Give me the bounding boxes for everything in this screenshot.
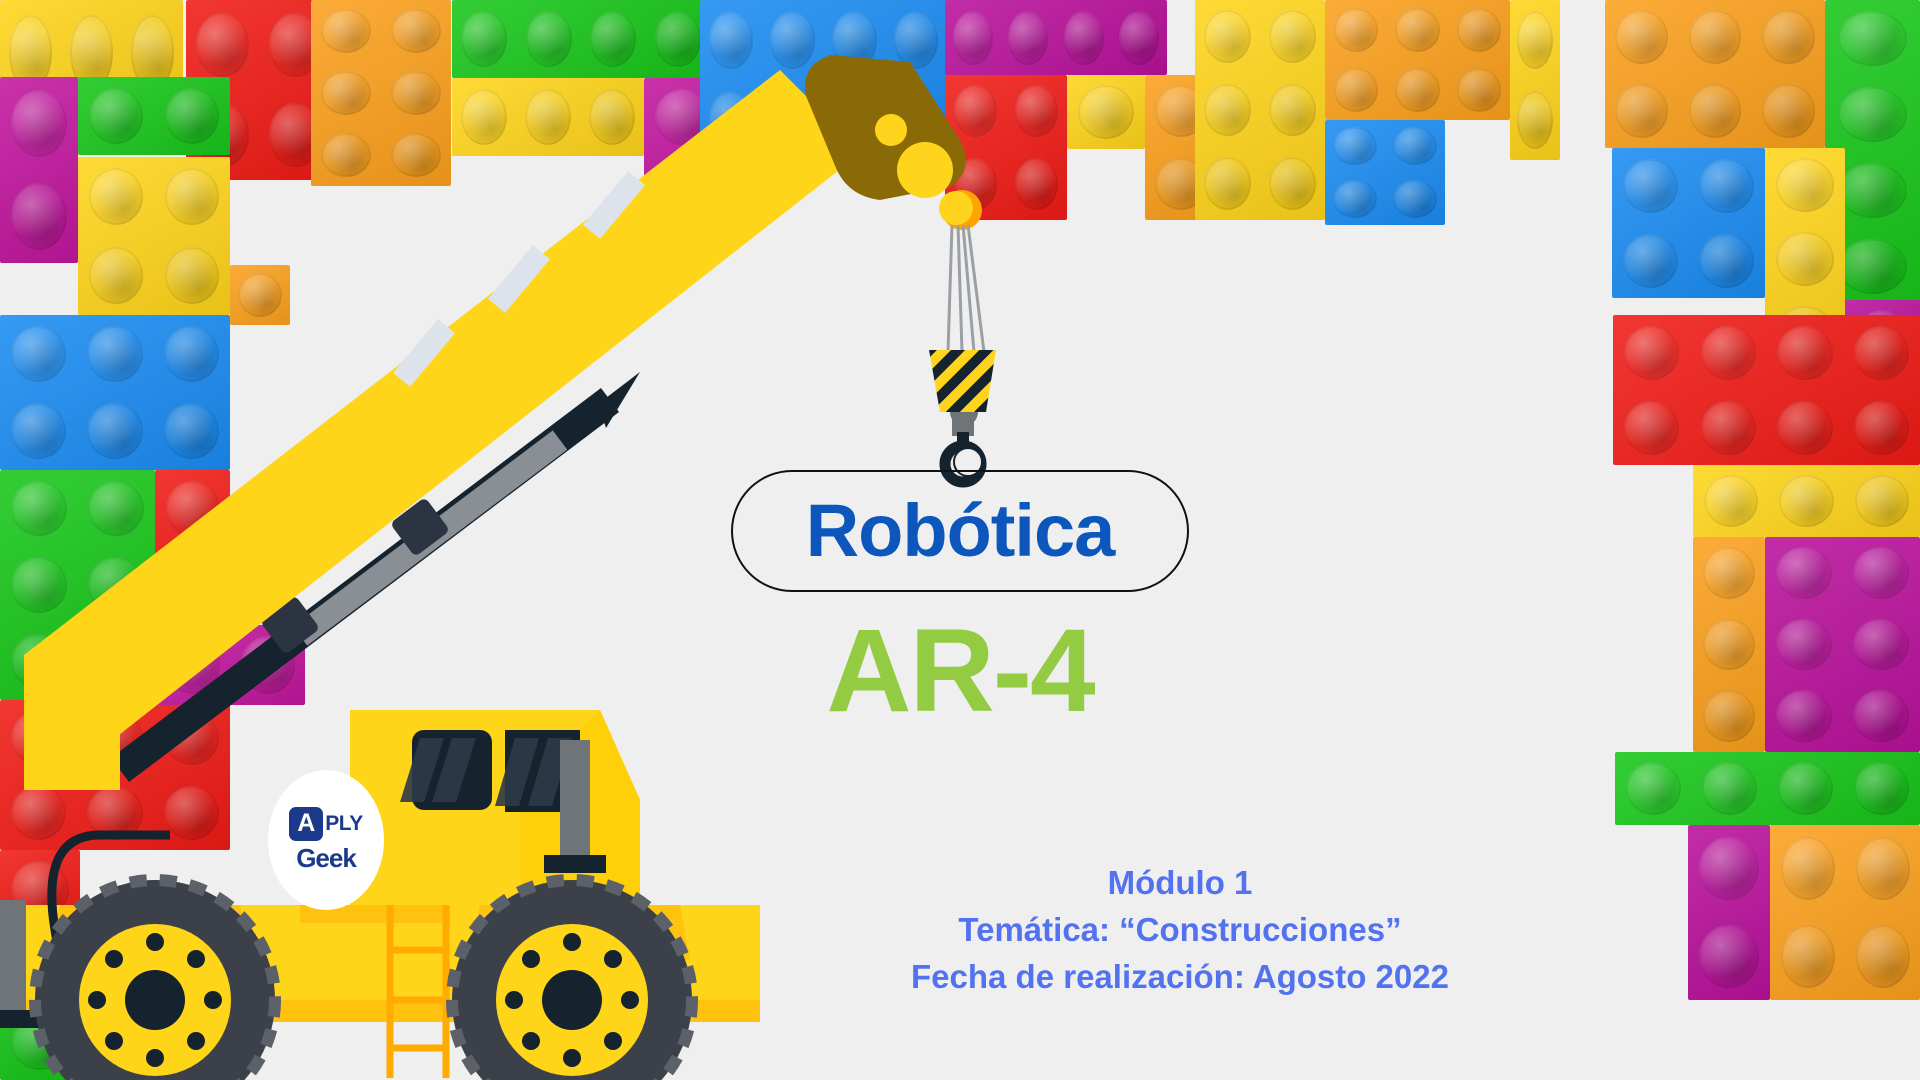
lego-stud [655, 166, 711, 222]
lego-stud [1699, 159, 1754, 213]
lego-stud [832, 11, 876, 69]
lego-stud [1854, 401, 1909, 455]
meta-line-module: Módulo 1 [760, 860, 1600, 907]
lego-studs [945, 75, 1067, 220]
lego-stud [1838, 11, 1906, 66]
lego-stud [321, 133, 371, 178]
meta-line-date: Fecha de realización: Agosto 2022 [760, 954, 1600, 1001]
lego-stud [87, 711, 142, 765]
lego-studs [1325, 120, 1445, 225]
lego-stud [1776, 619, 1832, 671]
lego-studs [1612, 148, 1765, 298]
lego-brick [452, 78, 644, 156]
lego-studs [1693, 465, 1920, 537]
lego-studs [78, 157, 230, 315]
lego-stud [1776, 690, 1832, 742]
lego-stud [1015, 158, 1059, 210]
lego-stud [1778, 762, 1833, 815]
lego-studs [0, 77, 78, 263]
lego-brick [1770, 825, 1920, 1000]
lego-stud [166, 481, 220, 537]
aply-geek-logo: A PLY Geek [268, 770, 384, 910]
lego-stud [1856, 925, 1910, 988]
lego-stud [241, 636, 295, 694]
lego-stud [11, 183, 67, 250]
lego-brick [1693, 537, 1765, 752]
lego-stud [953, 11, 993, 65]
lego-stud [461, 89, 507, 145]
lego-stud [526, 11, 572, 67]
lego-brick [945, 0, 1167, 75]
lego-stud [391, 71, 441, 116]
truck-ladder [390, 905, 446, 1078]
lego-stud [1854, 326, 1909, 380]
lego-studs [0, 315, 230, 470]
lego-studs [452, 78, 644, 156]
lego-brick [0, 930, 80, 1080]
lego-stud [1269, 157, 1316, 210]
lego-brick [1612, 148, 1765, 298]
title-pill-badge: Robótica [731, 470, 1189, 592]
lego-brick [1325, 120, 1445, 225]
logo-top-row: A PLY [289, 807, 362, 841]
lego-stud [954, 85, 998, 137]
lego-stud [655, 11, 701, 67]
lego-brick [1693, 465, 1920, 537]
lego-stud [11, 557, 67, 612]
lego-stud [1204, 10, 1251, 63]
lego-stud [1334, 8, 1378, 51]
lego-brick [1613, 315, 1920, 465]
lego-stud [91, 1011, 149, 1069]
lego-stud [1395, 8, 1439, 51]
lego-studs [311, 0, 451, 186]
lego-stud [1762, 10, 1815, 63]
lego-stud [164, 403, 219, 459]
lego-stud [1855, 475, 1909, 527]
lego-stud [1699, 925, 1758, 988]
lego-stud [11, 90, 67, 157]
lego-studs [1615, 752, 1920, 825]
lego-studs [1325, 0, 1510, 120]
lego-stud [770, 11, 814, 69]
lego-stud [832, 91, 876, 149]
lego-brick [0, 77, 78, 263]
lego-brick [452, 0, 710, 78]
lego-stud [1119, 11, 1159, 65]
lego-stud [1269, 84, 1316, 137]
lego-stud [1623, 159, 1678, 213]
lego-stud [1853, 690, 1909, 742]
meta-line-theme: Temática: “Construcciones” [760, 907, 1600, 954]
logo-ply-text: PLY [325, 812, 362, 836]
lego-stud [1776, 158, 1834, 211]
lego-stud [1615, 84, 1668, 137]
lego-stud [894, 11, 938, 69]
lego-stud [11, 1016, 69, 1070]
lego-stud [461, 11, 507, 67]
lego-stud [321, 71, 371, 116]
lego-studs [1510, 0, 1560, 160]
lego-studs [155, 470, 230, 625]
lego-stud [11, 634, 67, 689]
lego-stud [1457, 8, 1501, 51]
lego-stud [1517, 11, 1553, 69]
logo-a-mark: A [289, 807, 323, 841]
lego-stud [88, 481, 144, 536]
lego-stud [164, 711, 219, 765]
lego-stud [196, 13, 249, 78]
lego-studs [1067, 75, 1145, 149]
lego-brick [0, 470, 155, 700]
lego-stud [1393, 127, 1436, 165]
lego-brick [1510, 0, 1560, 160]
crane-hook-block [929, 350, 996, 482]
lego-stud [88, 557, 144, 612]
lego-stud [770, 91, 814, 149]
lego-stud [894, 91, 938, 149]
lego-stud [1015, 85, 1059, 137]
lego-stud [11, 481, 67, 536]
lego-studs [945, 0, 1167, 75]
lego-stud [590, 11, 636, 67]
lego-studs [1770, 825, 1920, 1000]
lego-stud [1856, 837, 1910, 900]
lego-stud [954, 158, 998, 210]
lego-stud [166, 558, 220, 614]
lego-stud [1457, 68, 1501, 111]
lego-brick [1765, 537, 1920, 752]
lego-stud [11, 711, 66, 765]
lego-studs [230, 265, 290, 325]
lego-stud [321, 9, 371, 54]
lego-stud [589, 89, 635, 145]
lego-stud [1517, 91, 1553, 149]
lego-stud [709, 91, 753, 149]
lego-studs [1688, 825, 1770, 1000]
lego-brick [1195, 0, 1325, 220]
lego-stud [1781, 837, 1835, 900]
slide-meta-block: Módulo 1 Temática: “Construcciones” Fech… [760, 860, 1600, 1001]
lego-stud [1615, 10, 1668, 63]
lego-stud [1838, 163, 1906, 218]
lego-stud [89, 88, 144, 144]
lego-stud [11, 786, 66, 840]
lego-stud [87, 326, 142, 382]
lego-stud [1854, 762, 1909, 815]
lego-stud [11, 861, 69, 919]
lego-studs [78, 77, 230, 155]
lego-stud [11, 326, 66, 382]
lego-stud [1204, 157, 1251, 210]
lego-brick [1067, 75, 1145, 149]
lego-studs [452, 0, 710, 78]
lego-stud [1689, 10, 1742, 63]
slide-canvas: A PLY Geek Robótica AR-4 Módulo 1 Temáti… [0, 0, 1920, 1080]
lego-stud [1334, 68, 1378, 111]
lego-stud [1204, 84, 1251, 137]
lego-stud [1699, 837, 1758, 900]
lego-stud [1064, 11, 1104, 65]
lego-studs [1613, 315, 1920, 465]
lego-brick [78, 77, 230, 155]
lego-brick [1615, 752, 1920, 825]
lego-stud [1395, 68, 1439, 111]
lego-stud [1333, 180, 1376, 218]
lego-brick [1325, 0, 1510, 120]
lego-stud [89, 168, 144, 225]
lego-stud [88, 634, 144, 689]
lego-stud [1781, 925, 1835, 988]
lego-stud [1699, 234, 1754, 288]
lego-studs [1195, 0, 1325, 220]
lego-stud [1703, 690, 1755, 742]
lego-studs [1605, 0, 1825, 148]
lego-stud [164, 786, 219, 840]
lego-studs [1765, 537, 1920, 752]
lego-stud [1853, 547, 1909, 599]
lego-stud [709, 11, 753, 69]
subtitle-code: AR-4 [731, 612, 1189, 730]
lego-stud [1838, 239, 1906, 294]
lego-stud [11, 941, 69, 995]
lego-studs [0, 930, 80, 1080]
lego-stud [87, 403, 142, 459]
lego-stud [1624, 401, 1679, 455]
lego-stud [1624, 326, 1679, 380]
truck-wheel-rear [452, 880, 692, 1080]
subtitle-wrap: AR-4 [731, 612, 1189, 730]
lego-stud [525, 89, 571, 145]
lego-stud [1779, 475, 1833, 527]
logo-geek-text: Geek [296, 843, 356, 874]
lego-brick [1605, 0, 1825, 148]
lego-studs [700, 0, 947, 160]
lego-stud [1703, 619, 1755, 671]
lego-stud [11, 403, 66, 459]
lego-stud [391, 133, 441, 178]
lego-stud [1704, 475, 1758, 527]
lego-studs [155, 625, 305, 705]
lego-stud [1701, 401, 1756, 455]
lego-brick [78, 157, 230, 315]
lego-brick [155, 625, 305, 705]
lego-studs [80, 1000, 160, 1080]
page-title: Robótica [806, 494, 1115, 568]
lego-studs [0, 850, 80, 930]
lego-brick [945, 75, 1067, 220]
lego-stud [1269, 10, 1316, 63]
lego-studs [0, 470, 155, 700]
lego-brick [0, 850, 80, 930]
lego-stud [89, 247, 144, 304]
lego-stud [166, 636, 220, 694]
lego-brick [0, 700, 230, 850]
lego-stud [1008, 11, 1048, 65]
lego-stud [1078, 85, 1134, 138]
lego-stud [391, 9, 441, 54]
lego-stud [1776, 232, 1834, 285]
lego-brick [1688, 825, 1770, 1000]
lego-stud [164, 326, 219, 382]
lego-stud [1333, 127, 1376, 165]
lego-studs [0, 700, 230, 850]
lego-stud [1853, 619, 1909, 671]
lego-brick [230, 265, 290, 325]
lego-brick [0, 315, 230, 470]
lego-stud [165, 168, 220, 225]
lego-stud [1689, 84, 1742, 137]
lego-stud [1393, 180, 1436, 218]
lego-brick [80, 1000, 160, 1080]
lego-stud [1777, 326, 1832, 380]
lego-brick [155, 470, 230, 625]
lego-stud [165, 247, 220, 304]
lego-brick [700, 0, 947, 160]
lego-stud [165, 88, 220, 144]
lego-stud [1626, 762, 1681, 815]
crane-cables [948, 225, 984, 352]
lego-studs [1693, 537, 1765, 752]
lego-stud [1777, 401, 1832, 455]
lego-stud [1762, 84, 1815, 137]
lego-stud [1838, 87, 1906, 142]
lego-stud [238, 273, 281, 316]
lego-stud [1703, 547, 1755, 599]
lego-stud [1623, 234, 1678, 288]
lego-stud [1776, 547, 1832, 599]
lego-brick [311, 0, 451, 186]
lego-stud [1701, 326, 1756, 380]
lego-stud [87, 786, 142, 840]
lego-stud [1702, 762, 1757, 815]
